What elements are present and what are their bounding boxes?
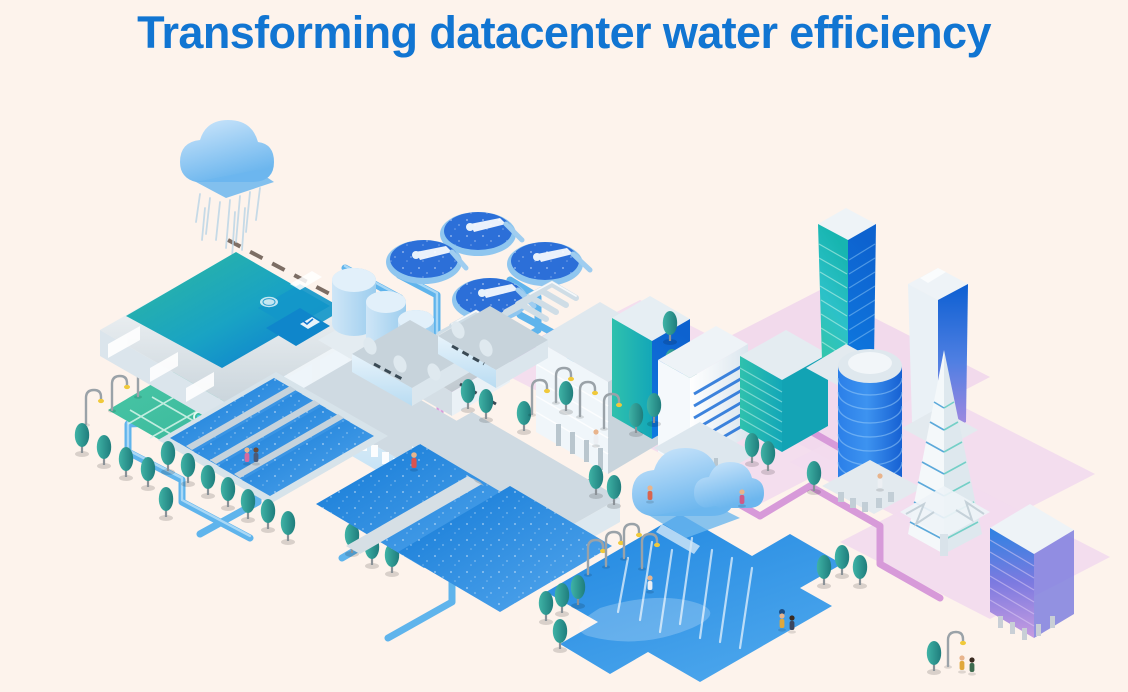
isometric-scene-svg [0,72,1128,692]
person [958,655,966,673]
illustration-canvas [0,72,1128,692]
page-root: Transforming datacenter water efficiency [0,0,1128,692]
person [968,657,976,675]
page-title: Transforming datacenter water efficiency [0,4,1128,62]
building-purple-block [990,504,1074,640]
clarifier-tank [507,242,590,286]
clarifier-tanks [386,212,590,322]
rain-cloud-left [180,120,274,258]
